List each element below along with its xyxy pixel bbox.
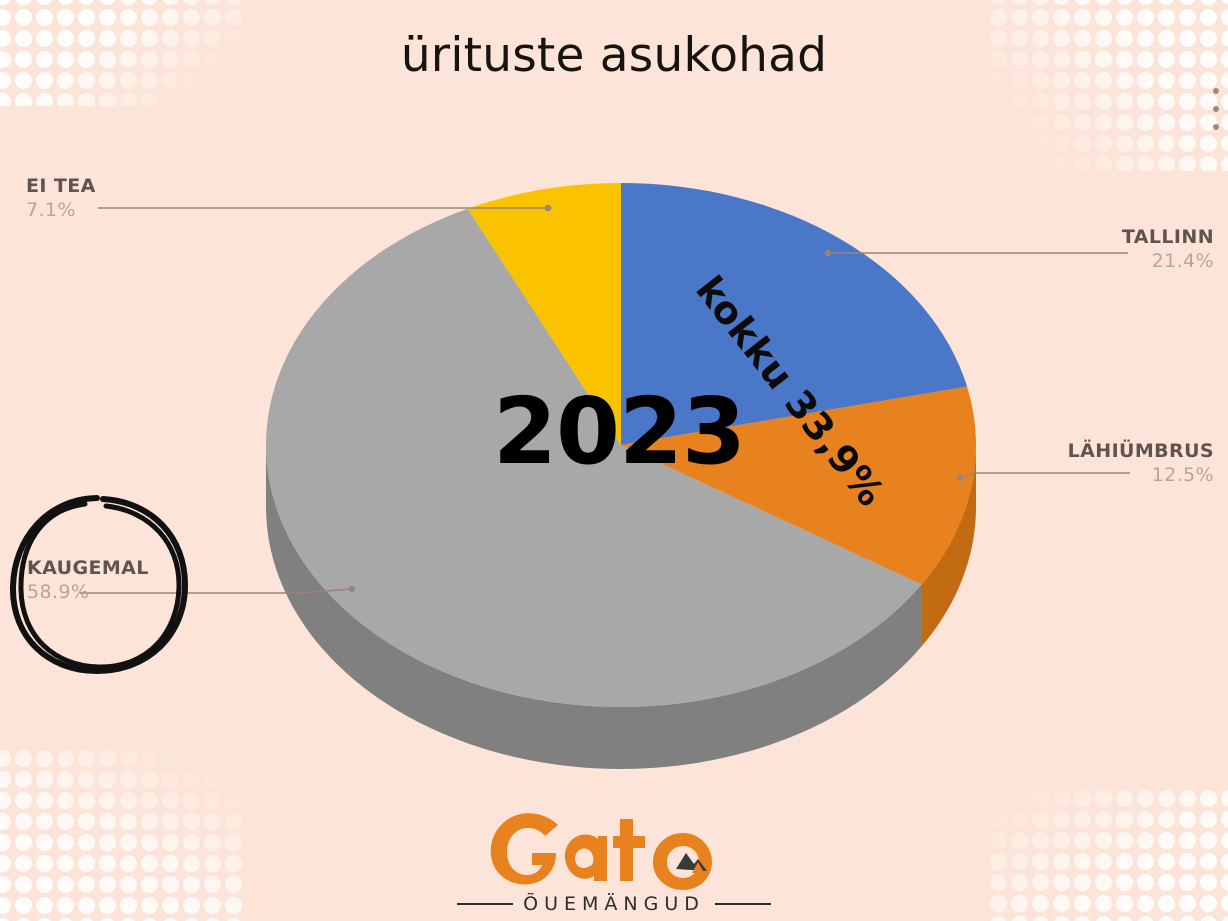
brand-logo: ÕUEMÄNGUD <box>0 805 1228 915</box>
callout-name: TALLINN <box>1122 227 1214 249</box>
callout-value: 12.5% <box>1068 463 1214 488</box>
logo-rule-left <box>457 903 513 905</box>
slide-canvas: ürituste asukohad EI TEA 7.1% TALLINN 21… <box>0 0 1228 921</box>
callout-value: 7.1% <box>26 198 96 223</box>
callout-label-kaugemal: KAUGEMAL 58.9% <box>27 558 149 605</box>
pie-center-label: 2023 <box>493 386 745 478</box>
leader-line-kaugemal-endpoint <box>349 586 355 592</box>
logo-subtitle: ÕUEMÄNGUD <box>523 893 705 915</box>
callout-name: LÄHIÜMBRUS <box>1068 441 1214 463</box>
callout-name: KAUGEMAL <box>27 558 149 580</box>
callout-value: 21.4% <box>1122 249 1214 274</box>
callout-name: EI TEA <box>26 176 96 198</box>
logo-wordmark <box>480 805 748 891</box>
callout-label-ei-tea: EI TEA 7.1% <box>26 176 96 223</box>
callout-value: 58.9% <box>27 580 149 605</box>
callout-label-tallinn: TALLINN 21.4% <box>1122 227 1214 274</box>
logo-rule-right <box>715 903 771 905</box>
leader-line-ei-tea-endpoint <box>545 205 551 211</box>
logo-subtitle-row: ÕUEMÄNGUD <box>457 893 771 915</box>
leader-line-lahiumbrus-endpoint <box>957 475 963 481</box>
leader-line-tallinn-endpoint <box>825 250 831 256</box>
callout-label-lahiumbrus: LÄHIÜMBRUS 12.5% <box>1068 441 1214 488</box>
